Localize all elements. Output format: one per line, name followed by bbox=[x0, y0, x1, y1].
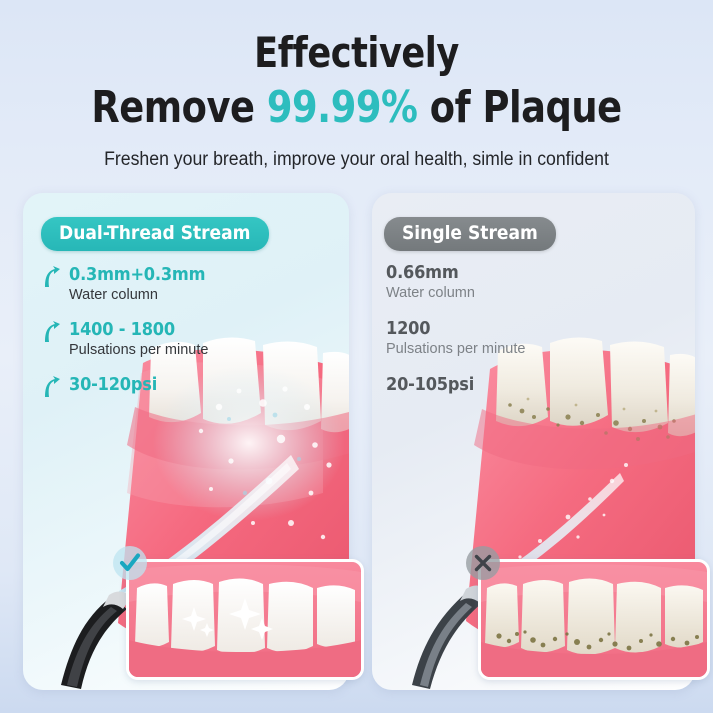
badge-single-stream: Single Stream bbox=[384, 217, 556, 251]
spec-value: 1200 bbox=[386, 319, 646, 340]
flosser-nozzle bbox=[61, 591, 131, 689]
spec-item: 30-120psi bbox=[39, 375, 299, 396]
flosser-nozzle bbox=[412, 585, 488, 689]
check-icon bbox=[119, 552, 141, 574]
spec-list-right: 0.66mm Water column 1200 Pulsations per … bbox=[386, 263, 646, 413]
cross-icon bbox=[473, 553, 493, 573]
headline-accent-percent: 99.99% bbox=[267, 82, 418, 133]
clean-teeth-image bbox=[129, 562, 361, 677]
spec-label: Pulsations per minute bbox=[386, 341, 646, 358]
header: Effectively Remove 99.99% of Plaque Fres… bbox=[0, 0, 713, 169]
spec-value: 1400 - 1800 bbox=[69, 320, 299, 341]
status-badge-positive bbox=[113, 546, 147, 580]
headline-prefix: Remove bbox=[91, 82, 267, 133]
up-arrow-icon bbox=[41, 266, 61, 288]
spec-item: 0.66mm Water column bbox=[386, 263, 646, 302]
up-arrow-icon bbox=[41, 321, 61, 343]
spec-label: Water column bbox=[386, 285, 646, 302]
spec-item: 1400 - 1800 Pulsations per minute bbox=[39, 320, 299, 359]
inset-clean-teeth bbox=[126, 559, 364, 680]
spec-value: 0.66mm bbox=[386, 263, 646, 284]
spec-list-left: 0.3mm+0.3mm Water column 1400 - 1800 Pul… bbox=[39, 265, 299, 412]
headline-line-1: Effectively bbox=[25, 32, 688, 74]
spec-item: 0.3mm+0.3mm Water column bbox=[39, 265, 299, 304]
spec-value: 20-105psi bbox=[386, 375, 646, 396]
up-arrow-icon bbox=[41, 376, 61, 398]
subtitle: Freshen your breath, improve your oral h… bbox=[25, 150, 688, 169]
spec-label: Pulsations per minute bbox=[69, 342, 299, 359]
spec-item: 20-105psi bbox=[386, 375, 646, 396]
spec-value: 30-120psi bbox=[69, 375, 299, 396]
badge-dual-thread-stream: Dual-Thread Stream bbox=[41, 217, 269, 251]
spec-value: 0.3mm+0.3mm bbox=[69, 265, 299, 286]
poster-canvas: Effectively Remove 99.99% of Plaque Fres… bbox=[0, 0, 713, 713]
headline-line-2: Remove 99.99% of Plaque bbox=[25, 86, 688, 130]
spec-item: 1200 Pulsations per minute bbox=[386, 319, 646, 358]
inset-plaque-teeth bbox=[478, 559, 710, 680]
spec-label: Water column bbox=[69, 287, 299, 304]
headline-suffix: of Plaque bbox=[417, 82, 621, 133]
status-badge-negative bbox=[466, 546, 500, 580]
plaque-teeth-image bbox=[481, 562, 707, 677]
